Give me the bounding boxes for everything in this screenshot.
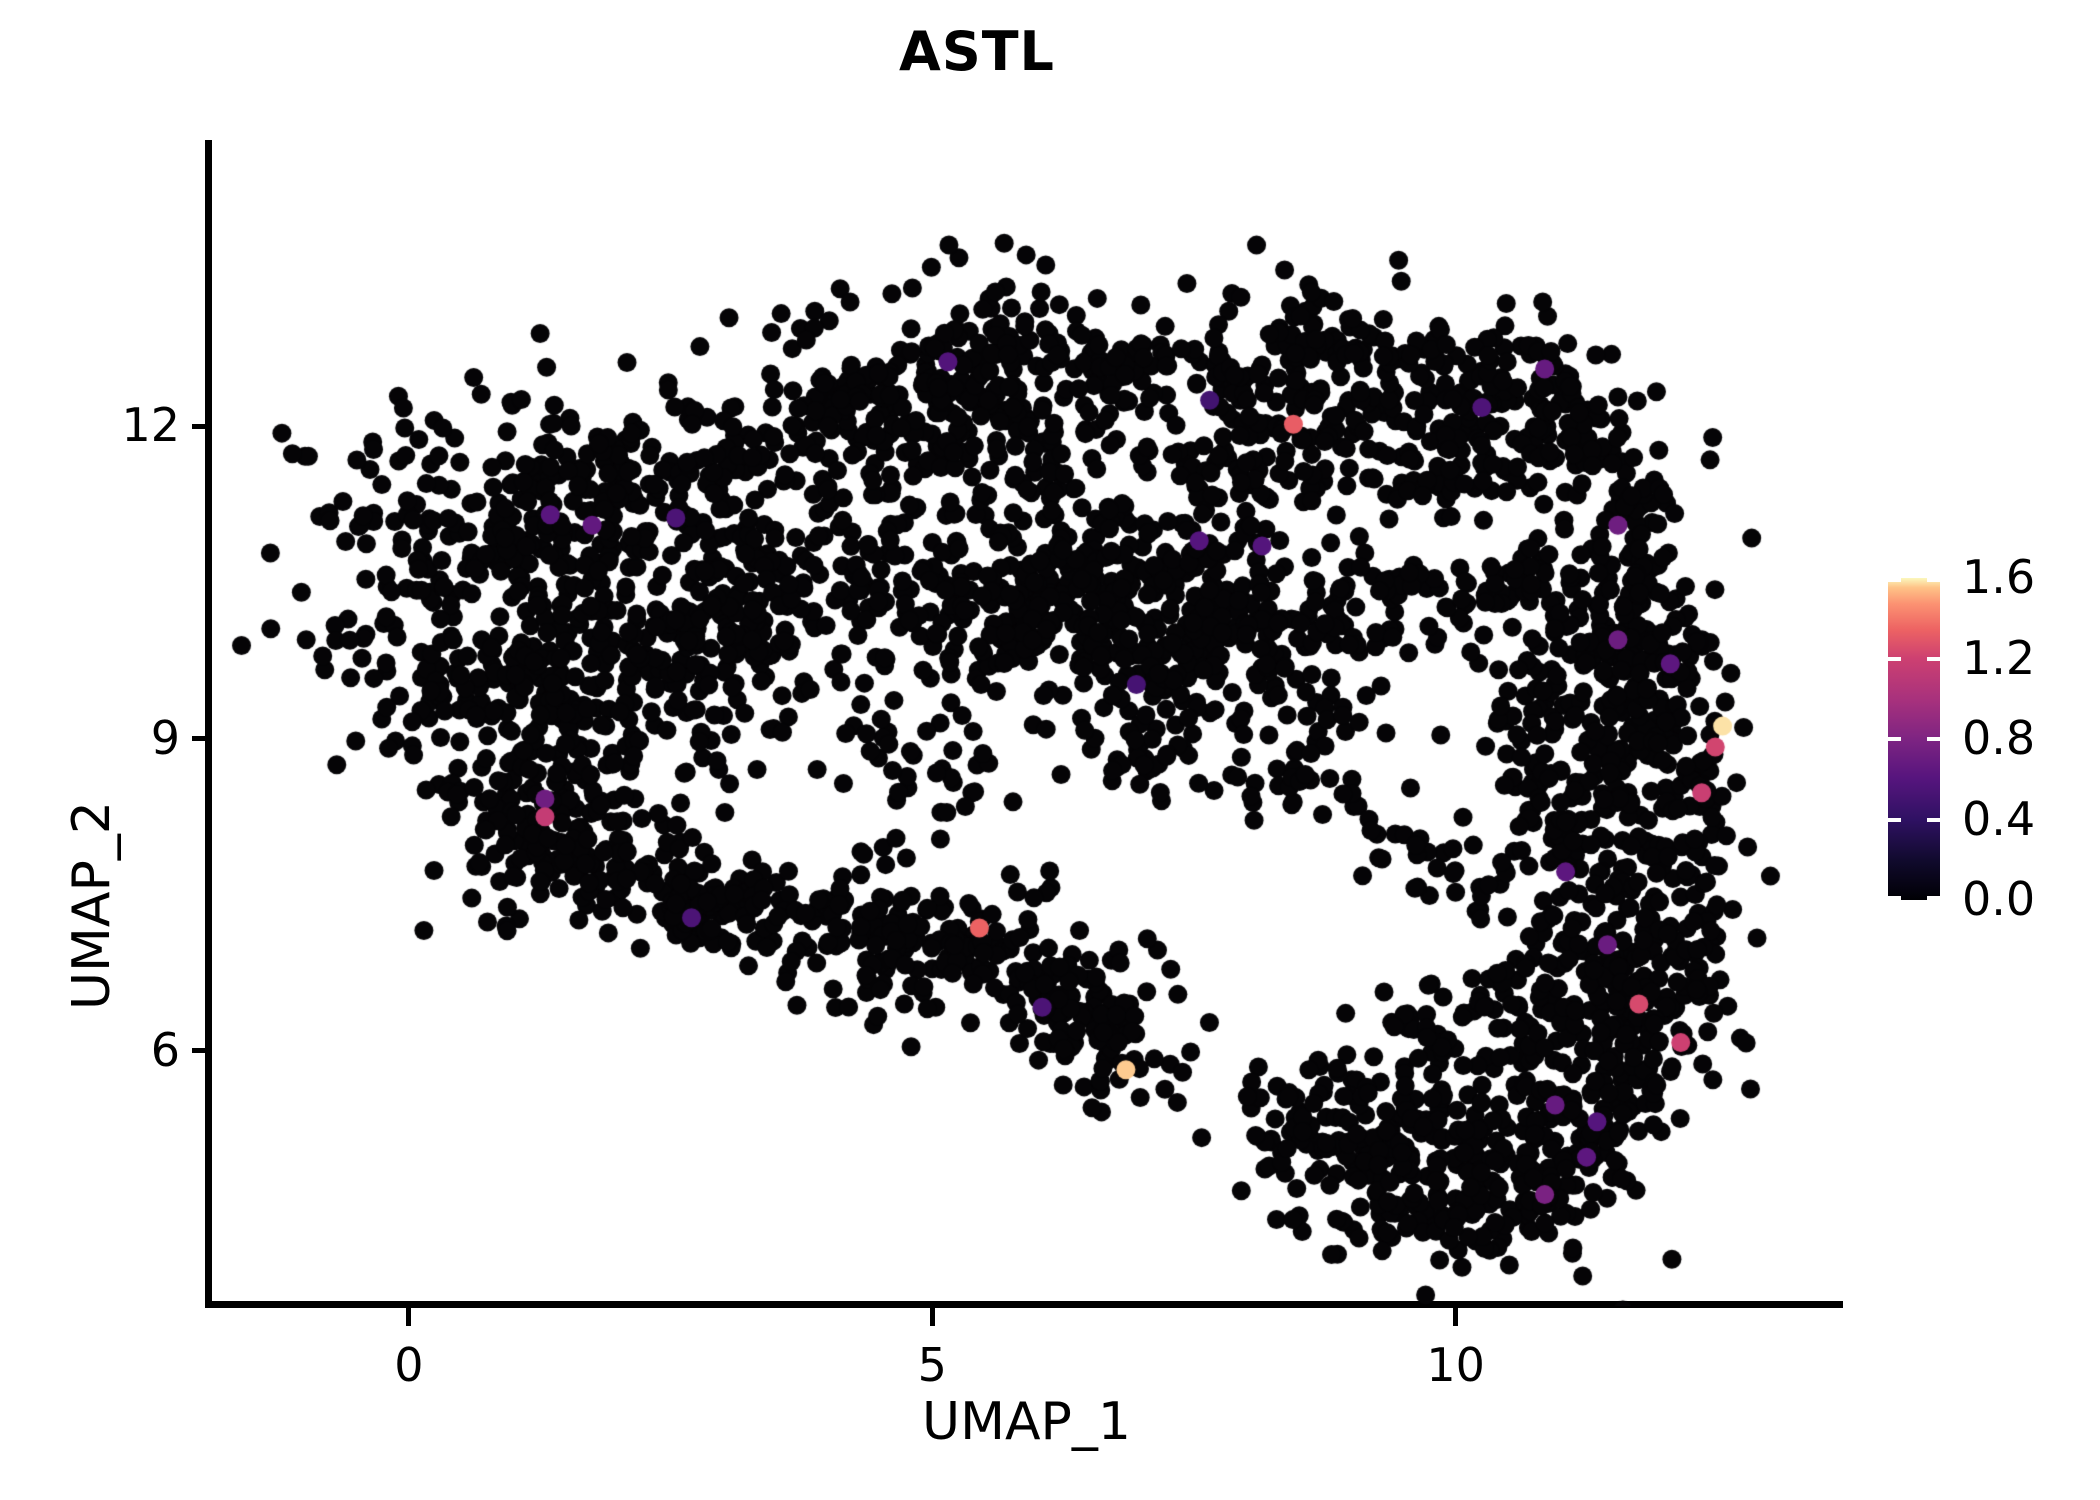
colorbar-tick-mark [1927, 737, 1940, 741]
y-tick-label: 6 [151, 1027, 180, 1073]
y-tick-mark [192, 1048, 210, 1053]
colorbar-tick-mark [1888, 578, 1901, 582]
colorbar-tick-mark [1888, 896, 1901, 900]
colorbar-tick-label: 0.0 [1962, 876, 2035, 922]
colorbar-tick-mark [1927, 657, 1940, 661]
x-tick-mark [1453, 1308, 1458, 1326]
colorbar-tick-mark [1888, 818, 1901, 822]
x-axis-label: UMAP_1 [210, 1392, 1843, 1452]
umap-scatter-points [210, 140, 1843, 1306]
colorbar-tick-label: 0.8 [1962, 715, 2035, 761]
y-tick-label: 9 [151, 715, 180, 761]
y-axis-label: UMAP_2 [62, 801, 122, 1010]
figure-canvas: ASTL 6912 0510 UMAP_1 UMAP_2 0.00.40.81.… [0, 0, 2100, 1500]
colorbar [1888, 578, 1940, 900]
y-tick-mark [192, 424, 210, 429]
scatter-plot-area [210, 140, 1843, 1306]
colorbar-tick-mark [1888, 737, 1901, 741]
colorbar-tick-mark [1927, 896, 1940, 900]
y-tick-label: 12 [121, 402, 180, 448]
colorbar-tick-mark [1927, 578, 1940, 582]
page-title: ASTL [0, 20, 2027, 83]
y-tick-mark [192, 736, 210, 741]
x-tick-mark [930, 1308, 935, 1326]
x-tick-label: 5 [872, 1342, 992, 1388]
colorbar-tick-mark [1888, 657, 1901, 661]
colorbar-tick-label: 1.2 [1962, 635, 2035, 681]
colorbar-tick-label: 1.6 [1962, 554, 2035, 600]
colorbar-tick-label: 0.4 [1962, 796, 2035, 842]
colorbar-tick-mark [1927, 818, 1940, 822]
x-tick-label: 0 [349, 1342, 469, 1388]
x-tick-label: 10 [1396, 1342, 1516, 1388]
x-tick-mark [406, 1308, 411, 1326]
